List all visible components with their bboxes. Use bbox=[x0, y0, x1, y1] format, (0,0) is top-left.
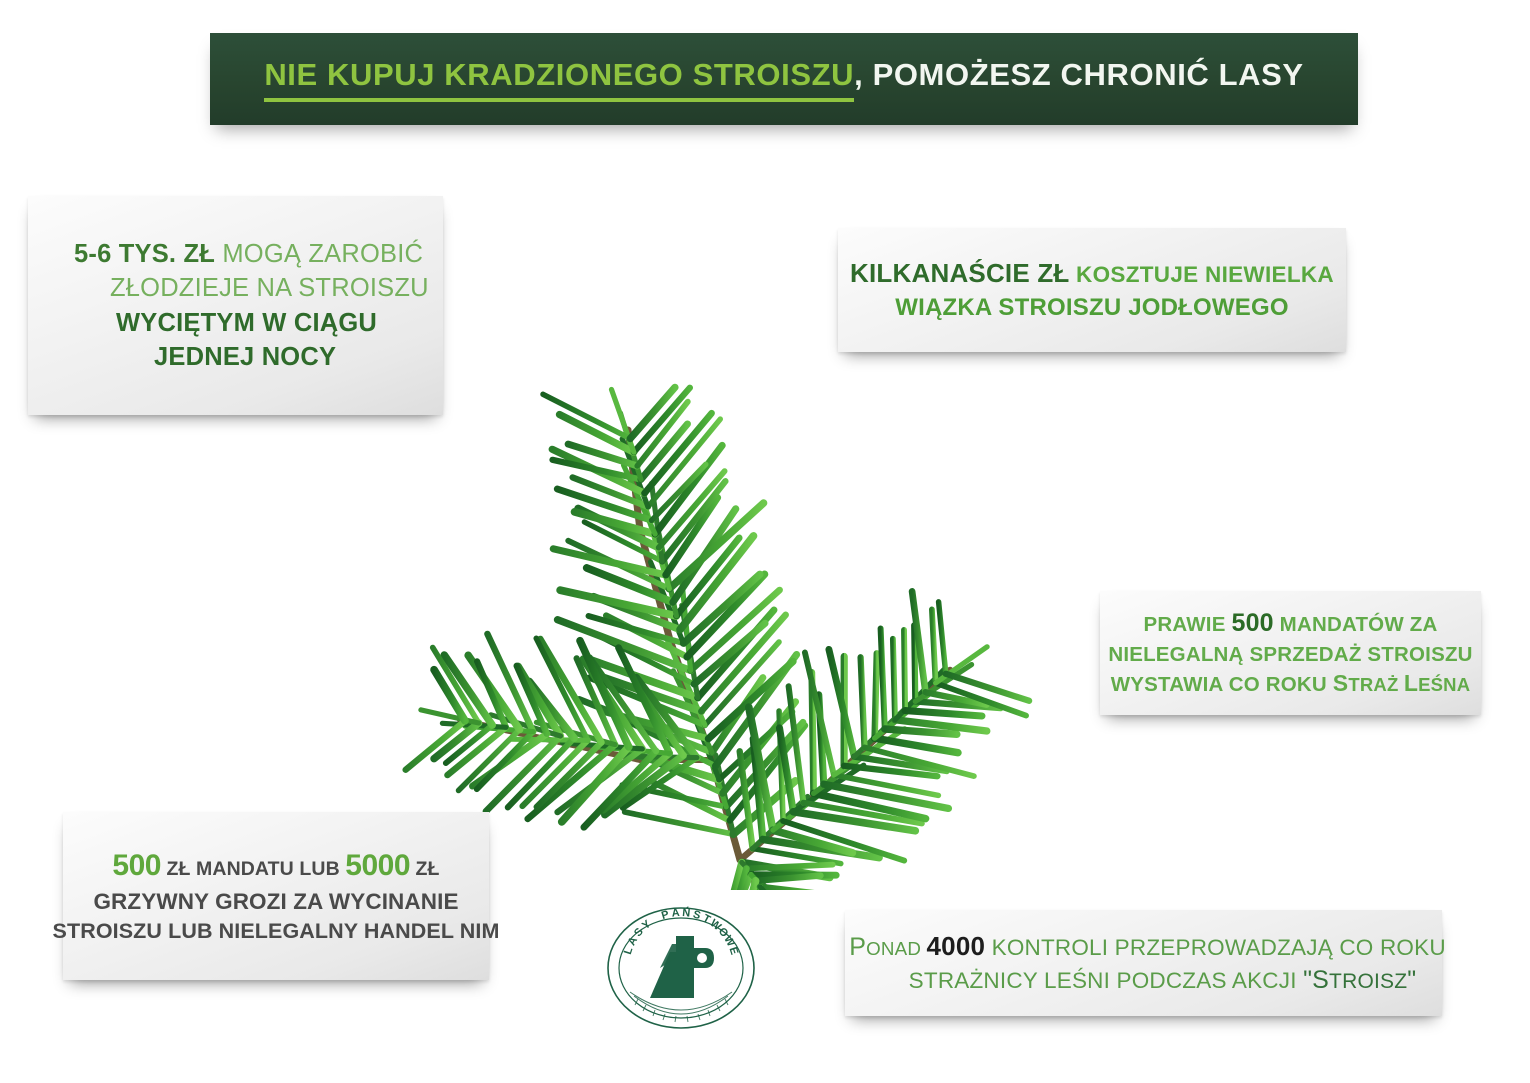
card-penalty-line1-mid2: ZŁ bbox=[410, 858, 440, 880]
card-controls-quote-open: " bbox=[1303, 966, 1312, 994]
card-controls-quote-close: " bbox=[1407, 966, 1416, 994]
card-fines-agency-cap1: S bbox=[1333, 670, 1349, 696]
card-fines-agency-rest1: TRAŻ bbox=[1348, 674, 1403, 695]
header-banner: NIE KUPUJ KRADZIONEGO STROISZU, POMOŻESZ… bbox=[210, 33, 1358, 125]
card-fines-line3-pre: WYSTAWIA CO ROKU bbox=[1111, 673, 1333, 696]
card-controls: PONAD 4000 KONTROLI PRZEPROWADZAJĄ CO RO… bbox=[845, 910, 1442, 1016]
card-controls-line2-pre: STRAŻNICY LEŚNI PODCZAS AKCJI bbox=[909, 968, 1303, 993]
card-penalty-line1-mid1: ZŁ MANDATU LUB bbox=[161, 858, 345, 880]
card-earnings-line-3: WYCIĘTYM W CIĄGU bbox=[50, 306, 377, 340]
lasy-panstwowe-logo: LASYPAŃSTWOWE bbox=[602, 906, 760, 1031]
card-controls-campaign-cap: S bbox=[1312, 966, 1329, 994]
header-title-highlight: NIE KUPUJ KRADZIONEGO STROISZU bbox=[264, 57, 854, 102]
infographic-canvas: NIE KUPUJ KRADZIONEGO STROISZU, POMOŻESZ… bbox=[0, 0, 1530, 1083]
card-penalty-line-3: STROISZU LUB NIELEGALNY HANDEL NIM bbox=[53, 917, 500, 946]
card-price-line-2: WIĄZKA STROISZU JODŁOWEGO bbox=[895, 292, 1288, 324]
card-fines-count: 500 bbox=[1231, 609, 1273, 637]
card-controls-line1-post: KONTROLI PRZEPROWADZAJĄ CO ROKU bbox=[985, 935, 1446, 960]
card-earnings-line-1: 5-6 TYS. ZŁ MOGĄ ZAROBIĆ bbox=[50, 237, 423, 271]
header-title-rest: , POMOŻESZ CHRONIĆ LASY bbox=[854, 57, 1304, 98]
svg-text:Y: Y bbox=[640, 918, 654, 932]
card-controls-line-2: STRAŻNICY LEŚNI PODCZAS AKCJI "STROISZ" bbox=[871, 964, 1417, 998]
card-controls-count: 4000 bbox=[927, 931, 986, 961]
card-fines-line1-pre: PRAWIE bbox=[1144, 613, 1232, 636]
card-controls-campaign: "STROISZ" bbox=[1303, 966, 1416, 994]
card-earnings-line-2: ZŁODZIEJE NA STROISZU bbox=[50, 271, 429, 305]
card-penalty-line-2: GRZYWNY GROZI ZA WYCINANIE bbox=[93, 887, 458, 917]
card-earnings: 5-6 TYS. ZŁ MOGĄ ZAROBIĆ ZŁODZIEJE NA ST… bbox=[28, 196, 443, 415]
card-price-line1-rest: KOSZTUJE NIEWIELKA bbox=[1070, 262, 1334, 287]
card-earnings-amount: 5-6 TYS. ZŁ bbox=[74, 240, 215, 268]
card-fines-agency-rest2: EŚNA bbox=[1418, 674, 1470, 695]
card-price-line-1: KILKANAŚCIE ZŁ KOSZTUJE NIEWIELKA bbox=[850, 256, 1334, 291]
card-penalty-line-1: 500 ZŁ MANDATU LUB 5000 ZŁ bbox=[112, 846, 439, 886]
card-fines-line-1: PRAWIE 500 MANDATÓW ZA bbox=[1144, 607, 1438, 641]
branch-needles bbox=[406, 387, 1030, 890]
card-penalty: 500 ZŁ MANDATU LUB 5000 ZŁ GRZYWNY GROZI… bbox=[63, 812, 489, 980]
card-fines-agency-cap2: L bbox=[1404, 670, 1418, 696]
card-controls-line1-cap: P bbox=[849, 933, 866, 961]
svg-text:Ń: Ń bbox=[682, 906, 691, 920]
card-fines-line-3: WYSTAWIA CO ROKU STRAŻ LEŚNA bbox=[1111, 668, 1471, 699]
card-fines-line-2: NIELEGALNĄ SPRZEDAŻ STROISZU bbox=[1108, 641, 1472, 668]
card-fines: PRAWIE 500 MANDATÓW ZA NIELEGALNĄ SPRZED… bbox=[1100, 591, 1481, 715]
card-controls-line1-pre: ONAD bbox=[866, 938, 926, 959]
card-price: KILKANAŚCIE ZŁ KOSZTUJE NIEWIELKA WIĄZKA… bbox=[838, 228, 1346, 352]
svg-text:A: A bbox=[671, 907, 680, 920]
card-fines-agency: STRAŻ LEŚNA bbox=[1333, 670, 1470, 696]
card-price-amount: KILKANAŚCIE ZŁ bbox=[850, 258, 1069, 288]
card-controls-campaign-word: TROISZ bbox=[1329, 970, 1407, 993]
card-controls-line-1: PONAD 4000 KONTROLI PRZEPROWADZAJĄ CO RO… bbox=[841, 929, 1446, 965]
card-penalty-amount-2: 5000 bbox=[345, 849, 410, 882]
card-fines-line1-post: MANDATÓW ZA bbox=[1274, 613, 1438, 636]
card-earnings-line1-rest: MOGĄ ZAROBIĆ bbox=[215, 240, 423, 268]
logo-monogram bbox=[650, 936, 714, 998]
card-penalty-amount-1: 500 bbox=[112, 849, 161, 882]
card-earnings-line-4: JEDNEJ NOCY bbox=[50, 340, 336, 374]
header-title: NIE KUPUJ KRADZIONEGO STROISZU, POMOŻESZ… bbox=[264, 57, 1303, 102]
